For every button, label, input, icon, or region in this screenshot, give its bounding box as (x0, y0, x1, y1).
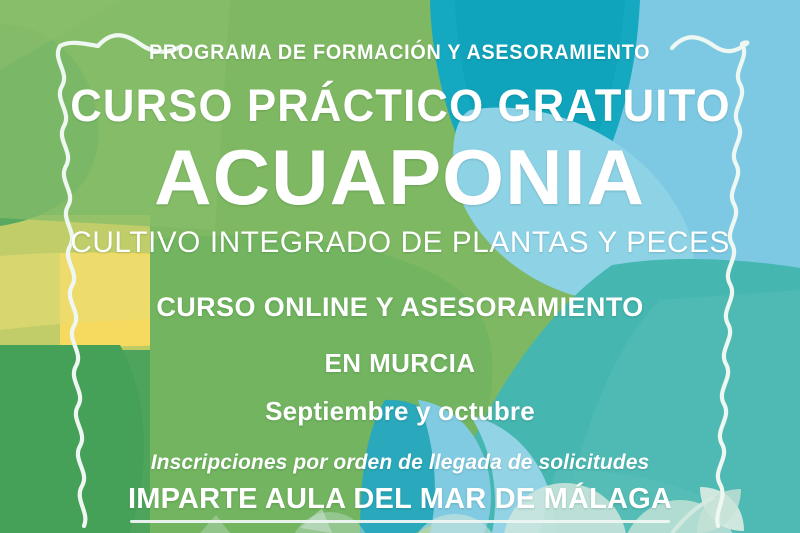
organizer-name: IMPARTE AULA DEL MAR DE MÁLAGA (128, 485, 672, 514)
course-location: EN MURCIA (325, 350, 476, 376)
organizer-underline (130, 520, 670, 523)
course-dates: Septiembre y octubre (265, 398, 535, 424)
program-kicker: PROGRAMA DE FORMACIÓN Y ASESORAMIENTO (149, 42, 650, 63)
course-subtitle: CULTIVO INTEGRADO DE PLANTAS Y PECES (70, 228, 730, 258)
registration-note: Inscripciones por orden de llegada de so… (151, 452, 650, 473)
organizer-block: IMPARTE AULA DEL MAR DE MÁLAGA (128, 485, 672, 514)
main-title: ACUAPONIA (155, 138, 646, 216)
poster-canvas: PROGRAMA DE FORMACIÓN Y ASESORAMIENTO CU… (0, 0, 800, 533)
course-format: CURSO ONLINE Y ASESORAMIENTO (156, 294, 643, 321)
course-headline: CURSO PRÁCTICO GRATUITO (70, 83, 731, 128)
poster-content: PROGRAMA DE FORMACIÓN Y ASESORAMIENTO CU… (0, 0, 800, 533)
